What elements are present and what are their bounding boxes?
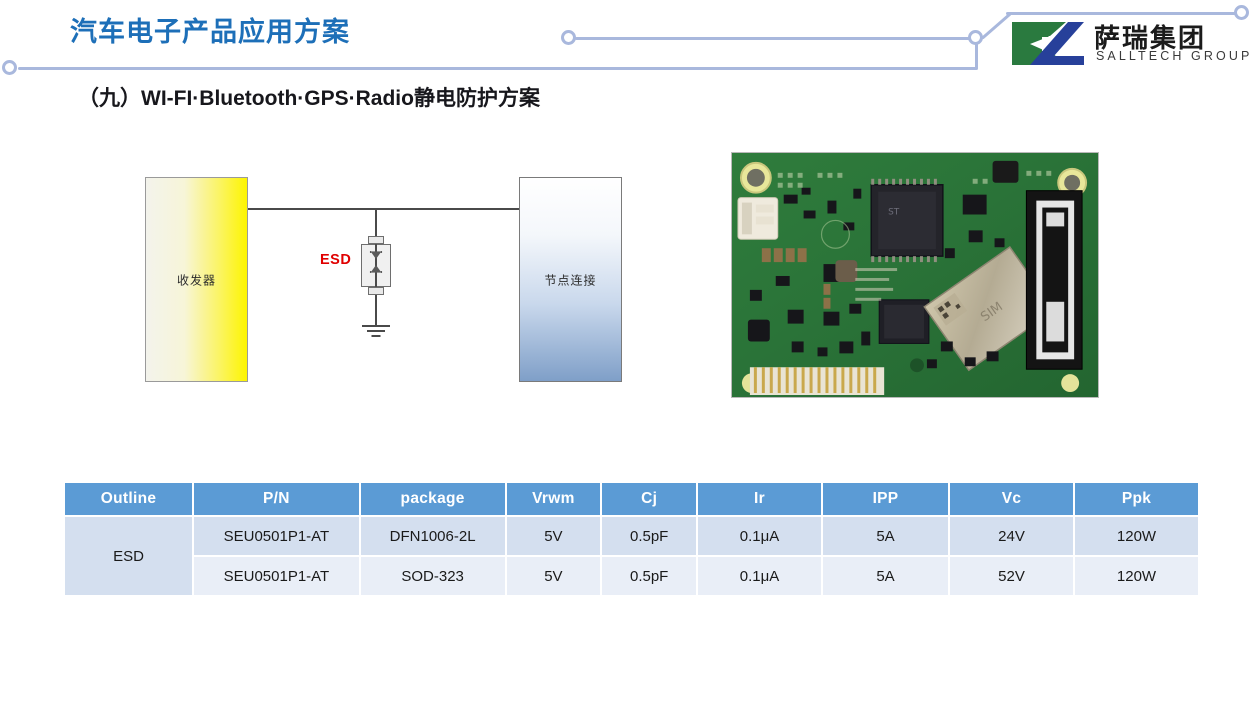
- cell-ppk: 120W: [1075, 557, 1198, 595]
- signal-wire-horizontal: [248, 208, 519, 210]
- cell-ipp: 5A: [823, 557, 948, 595]
- node-connection-block: 节点连接: [519, 177, 622, 382]
- cell-vc: 52V: [950, 557, 1073, 595]
- col-pn: P/N: [194, 483, 359, 515]
- col-ppk: Ppk: [1075, 483, 1198, 515]
- table-row: ESD SEU0501P1-AT DFN1006-2L 5V 0.5pF 0.1…: [65, 517, 1198, 555]
- ground-bar-3: [372, 335, 381, 337]
- col-vc: Vc: [950, 483, 1073, 515]
- brand-logo: 萨瑞集团 SALLTECH GROUP: [1008, 18, 1248, 73]
- transceiver-label: 收发器: [146, 271, 247, 288]
- col-ir: Ir: [698, 483, 821, 515]
- signal-wire-vertical-top: [375, 208, 377, 238]
- cell-ir: 0.1μA: [698, 557, 821, 595]
- esd-protection-diagram: 收发器 节点连接 ESD: [130, 160, 650, 410]
- cell-pn: SEU0501P1-AT: [194, 517, 359, 555]
- pcb-board-graphic: ST SIM: [732, 153, 1098, 397]
- header-decor-line-top: [1006, 12, 1242, 15]
- salltech-logo-mark: [1008, 20, 1086, 67]
- cell-ipp: 5A: [823, 517, 948, 555]
- cell-vc: 24V: [950, 517, 1073, 555]
- section-subtitle: （九）WI-FI·Bluetooth·GPS·Radio静电防护方案: [78, 82, 540, 112]
- cell-vrwm: 5V: [507, 557, 601, 595]
- logo-text-en: SALLTECH GROUP: [1096, 49, 1252, 63]
- svg-text:ST: ST: [888, 208, 900, 218]
- esd-pad-top: [368, 236, 384, 244]
- esd-pad-bottom: [368, 287, 384, 295]
- cell-package: DFN1006-2L: [361, 517, 505, 555]
- cell-package: SOD-323: [361, 557, 505, 595]
- col-cj: Cj: [602, 483, 696, 515]
- header-decor-line-lower: [18, 67, 978, 70]
- table-row: SEU0501P1-AT SOD-323 5V 0.5pF 0.1μA 5A 5…: [65, 557, 1198, 595]
- pcb-board-photo: ST SIM: [731, 152, 1099, 398]
- transceiver-block: 收发器: [145, 177, 248, 382]
- header-decor-circle-left: [2, 60, 17, 75]
- outline-cell: ESD: [65, 517, 192, 595]
- cell-pn: SEU0501P1-AT: [194, 557, 359, 595]
- col-ipp: IPP: [823, 483, 948, 515]
- node-connection-label: 节点连接: [520, 271, 621, 288]
- col-vrwm: Vrwm: [507, 483, 601, 515]
- zener-diode-upper-icon: [369, 250, 383, 260]
- table-header-row: Outline P/N package Vrwm Cj Ir IPP Vc Pp…: [65, 483, 1198, 515]
- col-package: package: [361, 483, 505, 515]
- esd-label: ESD: [320, 252, 351, 268]
- slide-header: 汽车电子产品应用方案 萨瑞集团 SALLTECH GROUP: [0, 0, 1255, 90]
- cell-cj: 0.5pF: [602, 557, 696, 595]
- header-decor-line-middle: [575, 37, 979, 40]
- ground-bar-1: [362, 325, 390, 327]
- cell-ir: 0.1μA: [698, 517, 821, 555]
- signal-wire-vertical-bottom: [375, 295, 377, 325]
- page-title: 汽车电子产品应用方案: [70, 10, 350, 49]
- col-outline: Outline: [65, 483, 192, 515]
- cell-vrwm: 5V: [507, 517, 601, 555]
- spec-table: Outline P/N package Vrwm Cj Ir IPP Vc Pp…: [63, 481, 1200, 597]
- ground-bar-2: [367, 330, 385, 332]
- zener-diode-lower-icon: [369, 264, 383, 274]
- cell-cj: 0.5pF: [602, 517, 696, 555]
- cell-ppk: 120W: [1075, 517, 1198, 555]
- header-decor-circle-middle: [561, 30, 576, 45]
